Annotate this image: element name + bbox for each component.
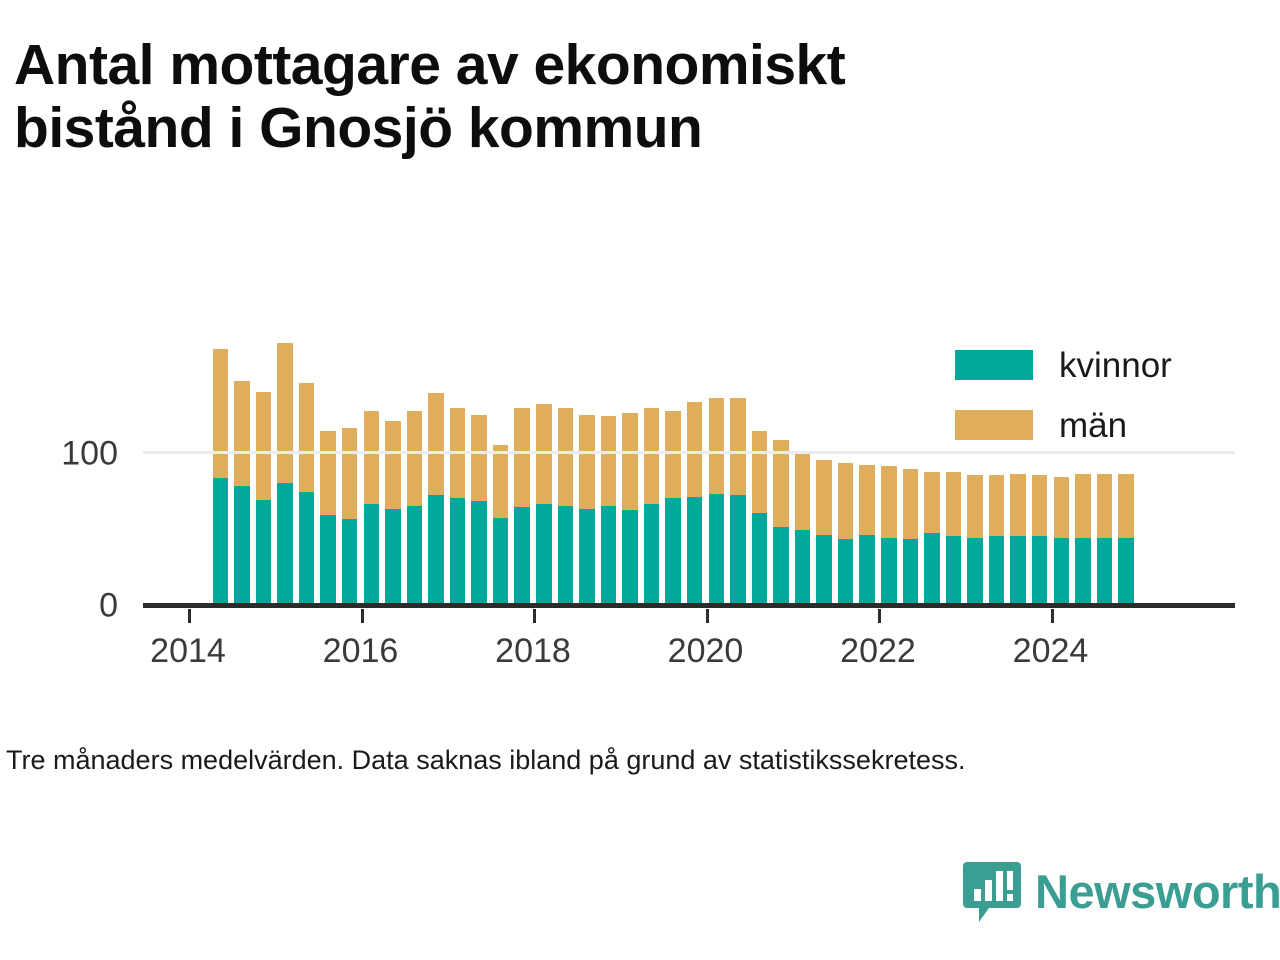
bar-segment-man bbox=[838, 463, 854, 539]
bar-segment-man bbox=[989, 475, 1005, 536]
bar-segment-kvinnor bbox=[213, 478, 229, 606]
bar-segment-man bbox=[903, 469, 919, 539]
bar-2016-Q4[interactable] bbox=[428, 393, 444, 606]
legend-label: män bbox=[1059, 408, 1127, 443]
bar-segment-kvinnor bbox=[256, 500, 272, 606]
bar-segment-man bbox=[816, 460, 832, 534]
bar-segment-man bbox=[1118, 474, 1134, 538]
bar-segment-man bbox=[881, 466, 897, 537]
bar-2020-Q4[interactable] bbox=[773, 440, 789, 606]
legend-label: kvinnor bbox=[1059, 348, 1172, 383]
bar-segment-kvinnor bbox=[687, 497, 703, 606]
bar-segment-kvinnor bbox=[1118, 538, 1134, 606]
bar-segment-man bbox=[471, 415, 487, 502]
x-axis-tick-label: 2014 bbox=[150, 632, 226, 671]
bar-segment-kvinnor bbox=[1054, 538, 1070, 606]
bar-2014-Q2[interactable] bbox=[213, 349, 229, 606]
bar-2019-Q2[interactable] bbox=[644, 408, 660, 606]
bar-segment-kvinnor bbox=[773, 527, 789, 606]
bar-2022-Q3[interactable] bbox=[924, 472, 940, 606]
bar-segment-kvinnor bbox=[385, 509, 401, 606]
bar-2021-Q3[interactable] bbox=[838, 463, 854, 606]
bar-segment-man bbox=[385, 421, 401, 509]
bar-segment-man bbox=[601, 416, 617, 506]
x-axis-tick bbox=[361, 609, 364, 623]
bar-segment-man bbox=[665, 411, 681, 498]
bar-segment-kvinnor bbox=[514, 507, 530, 606]
bar-segment-man bbox=[859, 465, 875, 535]
bar-2019-Q3[interactable] bbox=[665, 411, 681, 606]
bar-2024-Q3[interactable] bbox=[1097, 474, 1113, 606]
legend-swatch-kvinnor bbox=[955, 350, 1033, 380]
bar-segment-kvinnor bbox=[795, 530, 811, 606]
x-axis-tick bbox=[1051, 609, 1054, 623]
bar-segment-man bbox=[428, 393, 444, 495]
bar-segment-man bbox=[1032, 475, 1048, 536]
bar-segment-man bbox=[1054, 477, 1070, 538]
x-axis-tick-label: 2024 bbox=[1013, 632, 1089, 671]
bar-2019-Q1[interactable] bbox=[622, 413, 638, 606]
bar-2014-Q4[interactable] bbox=[256, 392, 272, 606]
bar-2021-Q1[interactable] bbox=[795, 451, 811, 606]
bar-2022-Q2[interactable] bbox=[903, 469, 919, 606]
bar-segment-man bbox=[967, 475, 983, 537]
bar-2018-Q2[interactable] bbox=[558, 408, 574, 606]
bar-segment-kvinnor bbox=[342, 519, 358, 606]
bar-segment-man bbox=[558, 408, 574, 505]
bar-2017-Q1[interactable] bbox=[450, 408, 466, 606]
bar-segment-man bbox=[514, 408, 530, 507]
bar-2024-Q4[interactable] bbox=[1118, 474, 1134, 606]
bar-segment-man bbox=[752, 431, 768, 513]
chart-page: Antal mottagare av ekonomiskt bistånd i … bbox=[0, 0, 1280, 960]
x-axis-tick-label: 2022 bbox=[840, 632, 916, 671]
chart-legend: kvinnormän bbox=[955, 336, 1172, 456]
bar-segment-kvinnor bbox=[967, 538, 983, 606]
y-axis-tick-label: 0 bbox=[0, 587, 118, 626]
bar-2023-Q3[interactable] bbox=[1010, 474, 1026, 606]
bar-segment-kvinnor bbox=[407, 506, 423, 606]
x-axis-tick-label: 2018 bbox=[495, 632, 571, 671]
bar-segment-kvinnor bbox=[730, 495, 746, 606]
x-axis-tick-label: 2016 bbox=[323, 632, 399, 671]
bar-segment-kvinnor bbox=[838, 539, 854, 606]
bar-segment-man bbox=[709, 398, 725, 494]
bar-segment-kvinnor bbox=[752, 513, 768, 606]
bar-segment-man bbox=[1097, 474, 1113, 538]
bar-segment-kvinnor bbox=[989, 536, 1005, 606]
bar-segment-man bbox=[299, 383, 315, 492]
x-axis-tick-label: 2020 bbox=[668, 632, 744, 671]
bar-segment-kvinnor bbox=[320, 515, 336, 606]
bar-segment-kvinnor bbox=[450, 498, 466, 606]
bar-2023-Q1[interactable] bbox=[967, 475, 983, 606]
x-axis-tick bbox=[706, 609, 709, 623]
bar-segment-man bbox=[730, 398, 746, 495]
x-axis-line bbox=[143, 603, 1235, 608]
bar-segment-man bbox=[536, 404, 552, 504]
bar-2023-Q4[interactable] bbox=[1032, 475, 1048, 606]
bar-segment-kvinnor bbox=[299, 492, 315, 606]
bar-2020-Q3[interactable] bbox=[752, 431, 768, 606]
bar-segment-kvinnor bbox=[816, 535, 832, 606]
bar-segment-kvinnor bbox=[601, 506, 617, 606]
bar-2017-Q3[interactable] bbox=[493, 445, 509, 606]
bar-2017-Q2[interactable] bbox=[471, 414, 487, 606]
bar-2024-Q2[interactable] bbox=[1075, 474, 1091, 606]
bar-segment-kvinnor bbox=[622, 510, 638, 606]
bar-2018-Q4[interactable] bbox=[601, 416, 617, 606]
legend-item-män[interactable]: män bbox=[955, 396, 1172, 454]
bar-2015-Q3[interactable] bbox=[320, 431, 336, 606]
bar-segment-man bbox=[946, 472, 962, 536]
bar-segment-kvinnor bbox=[859, 535, 875, 606]
bar-segment-man bbox=[364, 411, 380, 504]
bar-2019-Q4[interactable] bbox=[687, 402, 703, 606]
bar-2018-Q1[interactable] bbox=[536, 404, 552, 606]
bar-segment-man bbox=[256, 392, 272, 500]
bar-segment-kvinnor bbox=[277, 483, 293, 606]
bar-segment-man bbox=[644, 408, 660, 504]
bar-2017-Q4[interactable] bbox=[514, 408, 530, 606]
bar-2018-Q3[interactable] bbox=[579, 414, 595, 606]
bar-segment-kvinnor bbox=[946, 536, 962, 606]
bar-2015-Q4[interactable] bbox=[342, 428, 358, 606]
bar-segment-man bbox=[277, 343, 293, 483]
bar-segment-man bbox=[493, 445, 509, 518]
bar-segment-man bbox=[687, 402, 703, 496]
bar-2020-Q2[interactable] bbox=[730, 398, 746, 606]
bar-segment-man bbox=[622, 413, 638, 510]
bar-segment-man bbox=[407, 411, 423, 505]
bar-segment-man bbox=[795, 451, 811, 530]
bar-segment-kvinnor bbox=[709, 494, 725, 606]
bar-segment-man bbox=[213, 349, 229, 478]
bar-segment-kvinnor bbox=[471, 501, 487, 606]
bar-segment-kvinnor bbox=[536, 504, 552, 606]
bar-segment-man bbox=[1010, 474, 1026, 536]
bar-2022-Q1[interactable] bbox=[881, 466, 897, 606]
bar-2016-Q3[interactable] bbox=[407, 411, 423, 606]
bar-segment-kvinnor bbox=[1075, 538, 1091, 606]
brand-name: Newsworthy bbox=[1035, 868, 1280, 915]
bar-segment-kvinnor bbox=[903, 539, 919, 606]
bar-2015-Q2[interactable] bbox=[299, 383, 315, 606]
bar-segment-man bbox=[924, 472, 940, 533]
bar-segment-kvinnor bbox=[493, 518, 509, 606]
bar-2021-Q4[interactable] bbox=[859, 465, 875, 606]
bar-segment-man bbox=[234, 381, 250, 486]
bar-segment-man bbox=[579, 415, 595, 509]
bar-segment-kvinnor bbox=[1032, 536, 1048, 606]
bar-segment-kvinnor bbox=[364, 504, 380, 606]
bar-segment-kvinnor bbox=[234, 486, 250, 606]
legend-item-kvinnor[interactable]: kvinnor bbox=[955, 336, 1172, 394]
bar-2016-Q1[interactable] bbox=[364, 411, 380, 606]
bar-segment-man bbox=[320, 431, 336, 515]
bar-2015-Q1[interactable] bbox=[277, 343, 293, 606]
bar-segment-kvinnor bbox=[881, 538, 897, 606]
bar-2022-Q4[interactable] bbox=[946, 472, 962, 606]
bar-segment-kvinnor bbox=[428, 495, 444, 606]
bar-2016-Q2[interactable] bbox=[385, 421, 401, 606]
bar-segment-kvinnor bbox=[644, 504, 660, 606]
bar-2024-Q1[interactable] bbox=[1054, 477, 1070, 606]
chart-footnote: Tre månaders medelvärden. Data saknas ib… bbox=[6, 745, 1276, 776]
bar-segment-kvinnor bbox=[1010, 536, 1026, 606]
bar-segment-kvinnor bbox=[665, 498, 681, 606]
bar-2023-Q2[interactable] bbox=[989, 475, 1005, 606]
bar-segment-kvinnor bbox=[558, 506, 574, 606]
bar-segment-man bbox=[1075, 474, 1091, 538]
bar-2014-Q3[interactable] bbox=[234, 381, 250, 606]
bar-2020-Q1[interactable] bbox=[709, 398, 725, 606]
legend-swatch-män bbox=[955, 410, 1033, 440]
bar-chart-speech-bubble-icon bbox=[963, 860, 1021, 922]
x-axis-tick bbox=[878, 609, 881, 623]
bar-2021-Q2[interactable] bbox=[816, 460, 832, 606]
bar-segment-kvinnor bbox=[579, 509, 595, 606]
y-axis-tick-label: 100 bbox=[0, 435, 118, 474]
bar-segment-kvinnor bbox=[1097, 538, 1113, 606]
bar-segment-kvinnor bbox=[924, 533, 940, 606]
bar-segment-man bbox=[342, 428, 358, 519]
newsworthy-logo: Newsworthy bbox=[963, 860, 1280, 922]
x-axis-tick bbox=[188, 609, 191, 623]
x-axis-tick bbox=[533, 609, 536, 623]
